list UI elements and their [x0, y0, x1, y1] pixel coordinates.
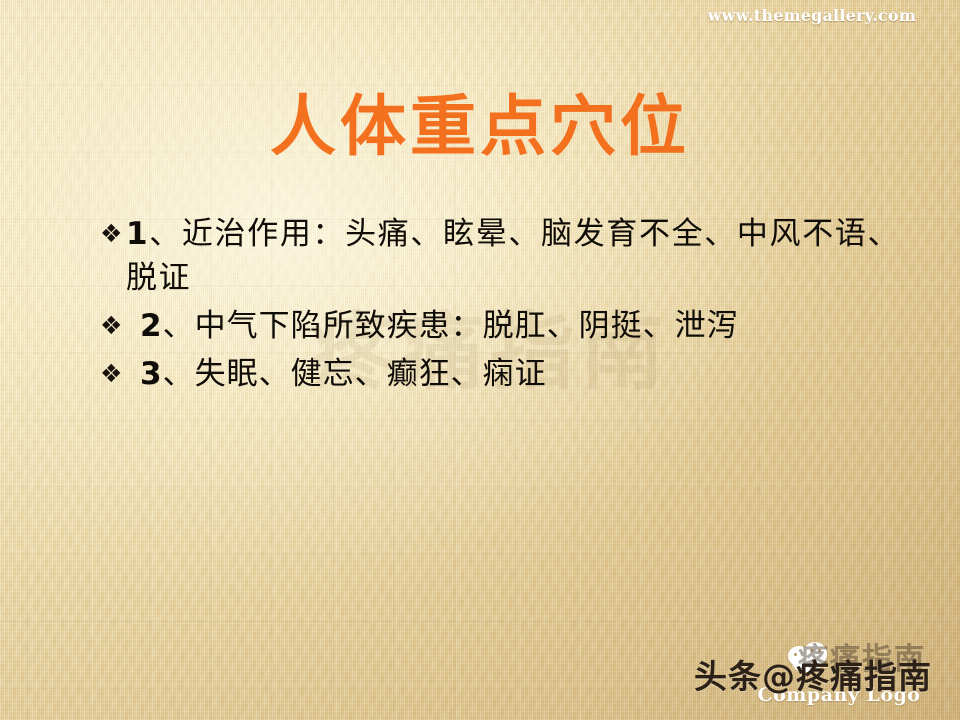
- list-item: ❖ 3、失眠、健忘、癫狂、痫证: [100, 352, 900, 396]
- slide-body: ❖ 1、近治作用：头痛、眩晕、脑发育不全、中风不语、脱证 ❖ 2、中气下陷所致疾…: [100, 212, 900, 400]
- list-item-number: 1: [126, 216, 149, 252]
- list-item-text: 2、中气下陷所致疾患：脱肛、阴挺、泄泻: [126, 304, 900, 348]
- list-item-body: 、中气下陷所致疾患：脱肛、阴挺、泄泻: [163, 308, 739, 344]
- footer-watermark: 头条@疼痛指南: [694, 650, 932, 698]
- list-item: ❖ 1、近治作用：头痛、眩晕、脑发育不全、中风不语、脱证: [100, 212, 900, 300]
- list-item-text: 1、近治作用：头痛、眩晕、脑发育不全、中风不语、脱证: [126, 212, 900, 300]
- list-item-body: 、近治作用：头痛、眩晕、脑发育不全、中风不语、脱证: [126, 216, 900, 296]
- list-item-body: 、失眠、健忘、癫狂、痫证: [163, 356, 547, 392]
- header-url-text: www.themegallery.com: [708, 6, 916, 25]
- list-item-number: 2: [140, 308, 163, 344]
- presentation-slide: 疼痛指南 www.themegallery.com 人体重点穴位 ❖ 1、近治作…: [0, 0, 960, 720]
- list-item-text: 3、失眠、健忘、癫狂、痫证: [126, 352, 900, 396]
- list-item: ❖ 2、中气下陷所致疾患：脱肛、阴挺、泄泻: [100, 304, 900, 348]
- list-item-number: 3: [140, 356, 163, 392]
- page-title: 人体重点穴位: [0, 92, 960, 161]
- diamond-bullet-icon: ❖: [100, 352, 126, 396]
- diamond-bullet-icon: ❖: [100, 212, 126, 256]
- diamond-bullet-icon: ❖: [100, 304, 126, 348]
